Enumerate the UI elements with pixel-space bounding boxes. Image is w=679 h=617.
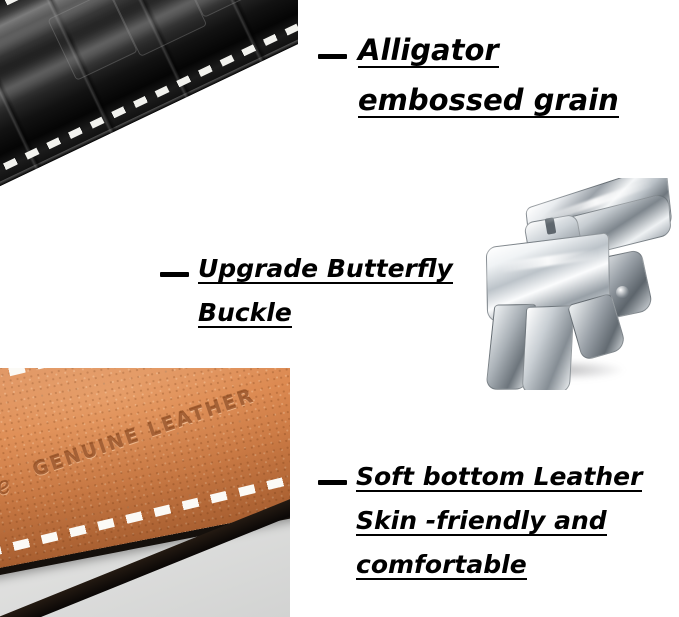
callout-alligator-line-2: embossed grain [358,86,619,118]
dash-marker-icon [318,480,347,485]
callout-alligator-lines: Alligator embossed grain [358,36,619,136]
infographic-canvas: e GENUINE LEATHER Alligator embossed gra… [0,0,679,617]
callout-soft-line-3: comfortable [356,552,527,580]
dash-marker-icon [318,54,347,59]
dash-marker-icon [160,272,189,277]
callout-buckle-line-2: Buckle [198,300,292,328]
buckle-fork-leg-center [522,305,575,390]
callout-soft-lines: Soft bottom Leather Skin -friendly and c… [356,464,642,596]
buckle-hinge-pin [616,286,629,299]
photo-butterfly-buckle [470,178,679,390]
callout-soft-line-2: Skin -friendly and [356,508,607,536]
photo-genuine-leather: e GENUINE LEATHER [0,368,290,617]
callout-alligator-line-1: Alligator [358,36,499,68]
callout-soft-line-1: Soft bottom Leather [356,464,642,492]
callout-buckle-lines: Upgrade Butterfly Buckle [198,256,453,344]
photo-alligator-strap [0,0,298,250]
callout-buckle-line-1: Upgrade Butterfly [198,256,453,284]
